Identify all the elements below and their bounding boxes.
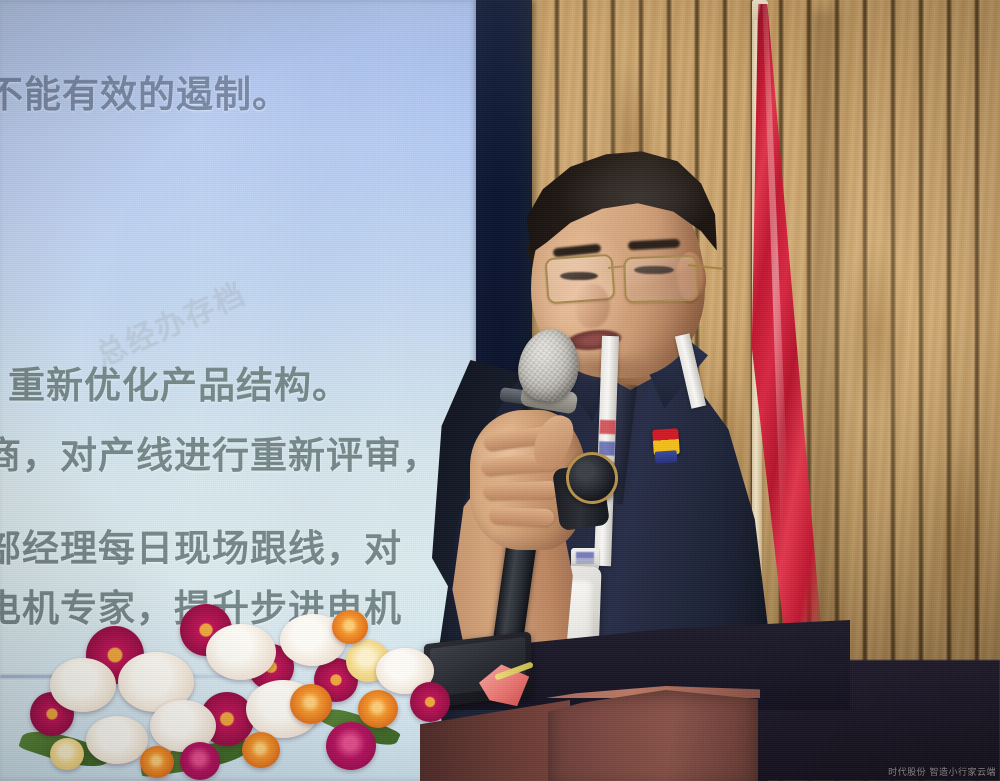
lectern-front-panel xyxy=(548,690,758,781)
yellow-rose xyxy=(50,738,84,770)
finger xyxy=(490,507,555,526)
lily-flower xyxy=(86,716,148,764)
floral-arrangement xyxy=(0,596,510,781)
orange-rose xyxy=(290,684,332,724)
lily-flower xyxy=(50,658,116,712)
screenshot-root: 总经办存档 不能有效的遏制。 重新优化产品结构。 商，对产线进行重新评审， 部经… xyxy=(0,0,1000,781)
orchid-flower xyxy=(206,624,276,680)
chest-emblem-pin-base xyxy=(655,450,678,464)
orange-rose xyxy=(140,746,174,778)
orange-rose xyxy=(358,690,398,728)
orange-rose xyxy=(242,732,280,768)
badge-clip-logo xyxy=(576,552,594,564)
magenta-rose xyxy=(180,742,220,780)
nose xyxy=(576,284,610,328)
corner-watermark: 时代股份 智造小行家云端 xyxy=(888,765,996,778)
gerbera-flower xyxy=(410,682,450,722)
magenta-rose xyxy=(326,722,376,770)
eyeglasses xyxy=(528,250,714,316)
orange-rose xyxy=(332,610,368,644)
finger xyxy=(484,481,559,501)
eyeglass-lens-right xyxy=(623,255,699,304)
